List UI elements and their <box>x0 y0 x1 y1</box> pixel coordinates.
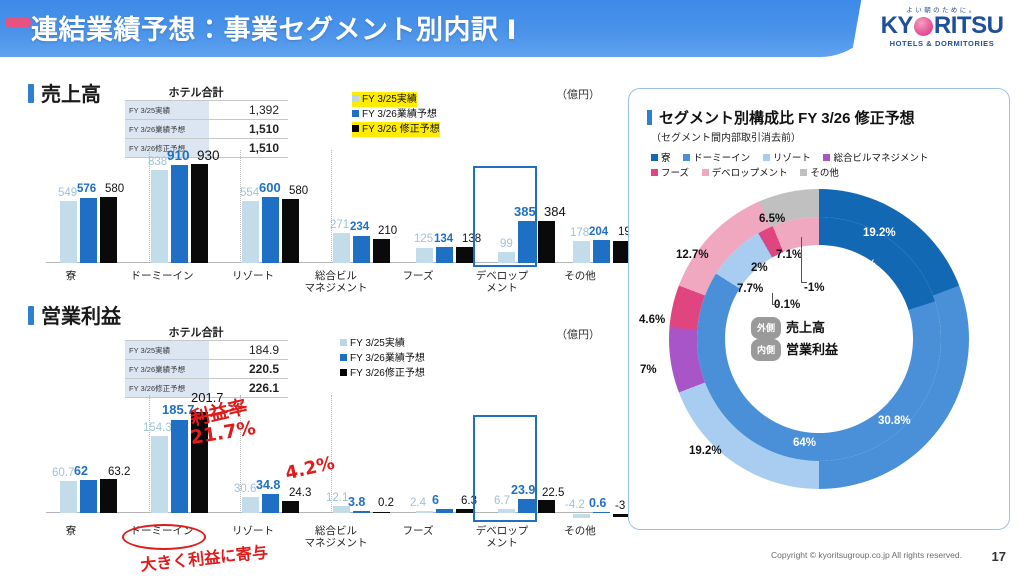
bar-fy25 <box>242 201 259 263</box>
x-label-development: デベロップ メント <box>462 525 542 549</box>
donut-legend-item-resort: リゾート <box>763 151 811 166</box>
bar-fy26-revised <box>373 512 390 513</box>
x-label-other: その他 <box>545 525 615 537</box>
bar-fy26-forecast <box>353 511 370 513</box>
logo-name-right: RITSU <box>934 12 1004 39</box>
donut-center-outer: 外側売上高 <box>751 317 901 339</box>
bar-fy26-forecast <box>262 494 279 513</box>
donut-inner-label-foods: 2% <box>751 262 768 274</box>
bar-fy25 <box>333 506 350 513</box>
bar-fy26-revised <box>282 501 299 513</box>
bar-fy26-revised <box>456 247 473 263</box>
donut-center-labels: 外側売上高 内側営業利益 <box>751 317 901 361</box>
logo-name-left: KY <box>881 12 913 39</box>
bar-fy26-forecast <box>171 165 188 263</box>
x-label-building-mgmt: 総合ビル マネジメント <box>296 270 376 294</box>
x-label-ryo: 寮 <box>36 525 106 537</box>
donut-outer-label-building-mgmt: 7% <box>640 364 657 376</box>
bar-fy26-revised <box>100 197 117 263</box>
donut-legend-item-ryo: 寮 <box>651 151 671 166</box>
donut-legend: 寮 ドーミーイン リゾート 総合ビルマネジメント フーズ デベロップメント その… <box>651 151 1001 181</box>
legend-swatch-icon <box>823 154 830 161</box>
sales-table-caption: ホテル合計 <box>125 84 267 100</box>
bar-fy26-revised <box>538 500 555 513</box>
donut-legend-item-other: その他 <box>800 166 839 181</box>
outer-pill-badge: 外側 <box>751 317 781 339</box>
donut-inner-label-resort: 7.7% <box>737 283 763 295</box>
bar-fy26-revised <box>100 479 117 513</box>
donut-legend-item-building-mgmt: 総合ビルマネジメント <box>823 151 928 166</box>
bar-fy26-revised <box>538 221 555 263</box>
donut-inner-label-building-mgmt: 0.1% <box>774 299 800 311</box>
donut-outer-label-development: 12.7% <box>676 249 709 261</box>
bar-fy26-forecast <box>436 509 453 513</box>
donut-inner-label-dormy-inn: 64% <box>793 437 816 449</box>
inner-pill-badge: 内側 <box>751 339 781 361</box>
legend-swatch-icon <box>352 125 359 132</box>
x-label-building-mgmt: 総合ビル マネジメント <box>296 525 376 549</box>
bar-fy25 <box>60 481 77 513</box>
leader-line-building-mgmt-2 <box>772 304 779 305</box>
bar-fy26-forecast <box>593 512 610 513</box>
donut-outer-label-resort: 19.2% <box>689 445 722 457</box>
bar-fy25 <box>60 201 77 263</box>
legend-swatch-icon <box>683 154 690 161</box>
donut-legend-item-foods: フーズ <box>651 166 689 181</box>
header-accent-dash <box>5 17 31 28</box>
table-row: FY 3/26業績予想220.5 <box>125 360 288 379</box>
profit-table-caption: ホテル合計 <box>125 324 267 340</box>
bar-fy26-revised <box>191 164 208 263</box>
donut-center-inner: 内側営業利益 <box>751 339 901 361</box>
slide-header: 連結業績予想：事業セグメント別内訳 Ⅰ よい朝のために。 KYRITSU HOT… <box>0 0 1024 57</box>
legend-item-fy26-revised: FY 3/26修正予想 <box>340 366 425 381</box>
legend-swatch-icon <box>340 339 347 346</box>
segment-composition-panel: セグメント別構成比 FY 3/26 修正予想 （セグメント間内部取引消去前） 寮… <box>628 88 1010 530</box>
donut-inner-label-other: -1% <box>804 282 824 294</box>
legend-item-fy26-forecast: FY 3/26業績予想 <box>340 351 425 366</box>
x-label-foods: フーズ <box>383 270 453 282</box>
bar-fy25 <box>416 248 433 263</box>
logo-sun-icon <box>914 17 933 36</box>
donut-panel-subtitle: （セグメント間内部取引消去前） <box>651 129 801 144</box>
donut-inner-label-ryo: 20% <box>853 259 876 271</box>
donut-chart: 19.2% 30.8% 19.2% 7% 4.6% 12.7% 6.5% 20%… <box>641 189 997 519</box>
sales-unit-label: （億円） <box>556 86 600 102</box>
table-row: FY 3/25実績184.9 <box>125 341 288 360</box>
legend-swatch-icon <box>651 154 658 161</box>
legend-swatch-icon <box>800 169 807 176</box>
bar-fy25 <box>333 233 350 263</box>
x-label-ryo: 寮 <box>36 270 106 282</box>
legend-swatch-icon <box>763 154 770 161</box>
bar-fy26-forecast <box>262 197 279 263</box>
bar-fy25 <box>151 436 168 513</box>
legend-swatch-icon <box>702 169 709 176</box>
profit-legend: FY 3/25実績 FY 3/26業績予想 FY 3/26修正予想 <box>340 336 425 381</box>
leader-line-other <box>801 237 802 283</box>
x-label-resort: リゾート <box>218 525 288 537</box>
kyoritsu-logo: よい朝のために。 KYRITSU HOTELS & DORMITORIES <box>872 4 1012 48</box>
logo-wordmark: KYRITSU <box>872 14 1012 38</box>
legend-item-fy26-forecast: FY 3/26業績予想 <box>352 107 437 122</box>
sales-legend: FY 3/25実績 FY 3/26業績予想 FY 3/26 修正予想 <box>352 92 440 137</box>
page-title: 連結業績予想：事業セグメント別内訳 Ⅰ <box>31 8 517 47</box>
legend-swatch-icon <box>340 354 347 361</box>
legend-swatch-icon <box>340 369 347 376</box>
table-row: FY 3/26業績予想1,510 <box>125 120 288 139</box>
bar-fy25 <box>416 511 433 513</box>
legend-item-fy26-revised: FY 3/26 修正予想 <box>352 122 440 137</box>
sales-highlight-box <box>473 166 537 267</box>
bar-fy26-forecast <box>436 247 453 263</box>
legend-swatch-icon <box>651 169 658 176</box>
leader-line-other-2 <box>801 282 807 283</box>
bar-fy26-forecast <box>171 420 188 513</box>
bar-fy25 <box>573 241 590 263</box>
x-label-dormy-inn: ドーミーイン <box>127 270 197 282</box>
bar-fy26-forecast <box>80 480 97 513</box>
legend-swatch-icon <box>352 110 359 117</box>
profit-unit-label: （億円） <box>556 326 600 342</box>
legend-item-fy25: FY 3/25実績 <box>340 336 405 351</box>
bar-fy26-forecast <box>593 240 610 263</box>
profit-section-title: 営業利益 <box>28 300 121 329</box>
donut-panel-title: セグメント別構成比 FY 3/26 修正予想 <box>647 107 915 128</box>
x-label-development: デベロップ メント <box>462 270 542 294</box>
bar-fy25 <box>242 497 259 513</box>
donut-outer-label-dormy-inn: 30.8% <box>878 415 911 427</box>
page-number: 17 <box>992 549 1006 564</box>
donut-inner-label-development: 7.1% <box>776 249 802 261</box>
donut-outer-label-foods: 4.6% <box>639 314 665 326</box>
profit-highlight-box <box>473 415 537 522</box>
bar-fy26-forecast <box>80 198 97 263</box>
x-label-foods: フーズ <box>383 525 453 537</box>
bar-fy25 <box>573 514 590 518</box>
copyright-text: Copyright © kyoritsugroup.co.jp All righ… <box>771 550 962 560</box>
bar-fy26-revised <box>456 509 473 513</box>
donut-legend-item-development: デベロップメント <box>702 166 788 181</box>
section-marker-icon <box>28 84 34 103</box>
donut-outer-label-ryo: 19.2% <box>863 227 896 239</box>
legend-swatch-icon <box>352 95 359 102</box>
legend-item-fy25: FY 3/25実績 <box>352 92 417 107</box>
section-marker-icon <box>28 306 34 325</box>
bar-fy25 <box>151 170 168 263</box>
donut-legend-item-dormy-inn: ドーミーイン <box>683 151 750 166</box>
bar-fy26-forecast <box>353 236 370 263</box>
logo-subtitle: HOTELS & DORMITORIES <box>872 39 1012 48</box>
sales-section-title: 売上高 <box>28 78 101 107</box>
bar-fy26-revised <box>282 199 299 263</box>
table-row: FY 3/25実績1,392 <box>125 101 288 120</box>
section-marker-icon <box>647 110 652 125</box>
x-label-resort: リゾート <box>218 270 288 282</box>
bar-fy26-revised <box>373 239 390 263</box>
donut-outer-label-other: 6.5% <box>759 213 785 225</box>
x-label-other: その他 <box>545 270 615 282</box>
